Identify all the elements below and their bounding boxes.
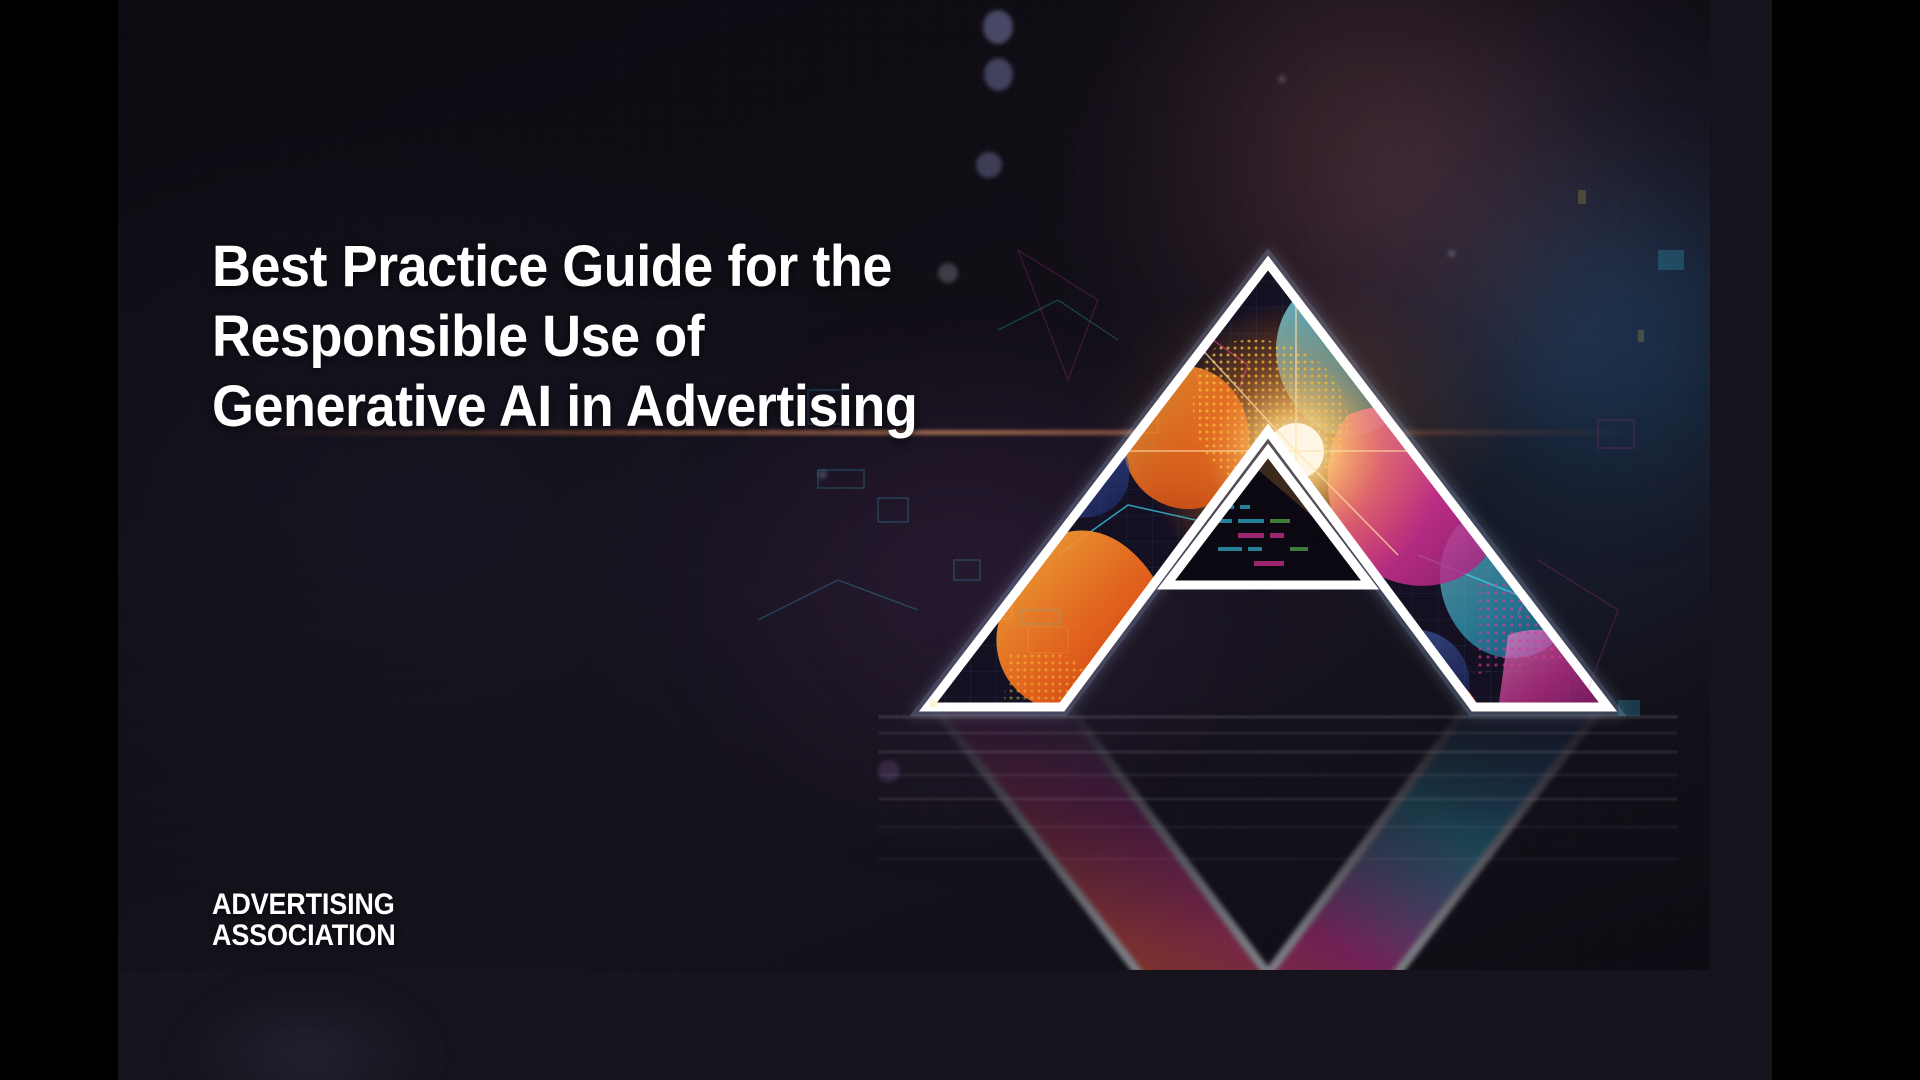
ripple-line: [878, 826, 1678, 828]
bokeh-dot: [976, 152, 1002, 178]
hero-artwork-region: [118, 0, 1710, 970]
bokeh-dot: [818, 470, 827, 479]
letter-a-svg: [918, 255, 1618, 715]
bokeh-dot: [984, 58, 1013, 91]
slide-surface: Best Practice Guide for the Responsible …: [118, 0, 1772, 1080]
advertising-association-logo: ADVERTISING ASSOCIATION: [212, 889, 396, 951]
ripple-line: [878, 732, 1678, 734]
ripple-line: [878, 716, 1678, 718]
ripple-line: [878, 798, 1678, 800]
screenshot-canvas: Best Practice Guide for the Responsible …: [0, 0, 1920, 1080]
bokeh-dot: [983, 10, 1013, 44]
page-title: Best Practice Guide for the Responsible …: [212, 232, 919, 442]
letterbox-bar-left: [0, 0, 118, 1080]
water-reflection: [878, 690, 1678, 970]
ripple-line: [878, 751, 1678, 753]
bokeh-dot: [1278, 75, 1286, 83]
ripple-line: [878, 858, 1678, 860]
letter-a-graphic: [918, 255, 1618, 715]
bottom-ambient-glow: [178, 990, 438, 1080]
letterbox-bar-right: [1772, 0, 1920, 1080]
ripple-line: [878, 774, 1678, 776]
